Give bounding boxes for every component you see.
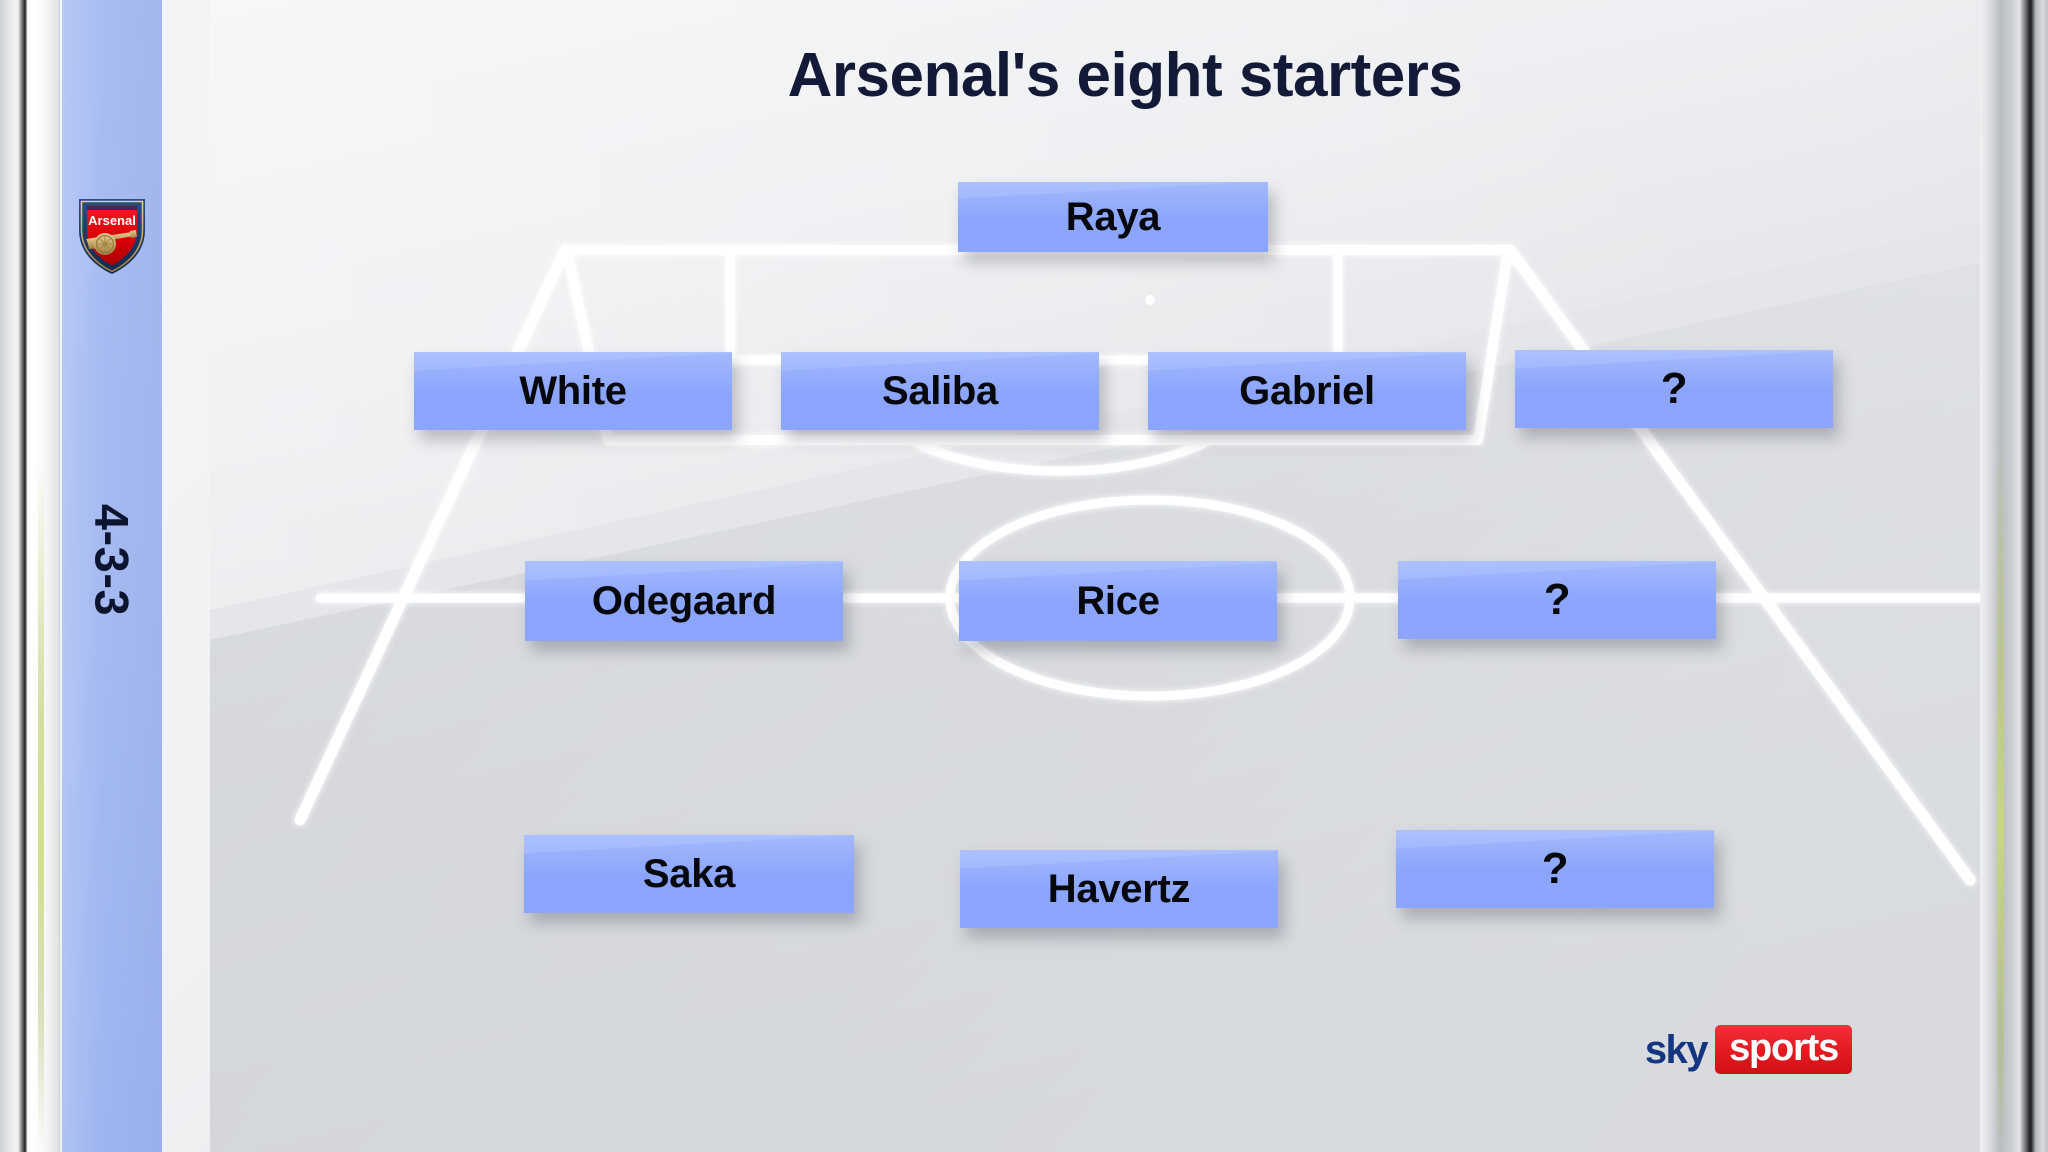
player-name-label: Rice [959,561,1277,641]
player-tile-defence-unknown-3[interactable]: ? [1515,350,1833,428]
player-tile-attack-unknown-2[interactable]: ? [1396,830,1714,908]
player-tile-raya[interactable]: Raya [958,182,1268,252]
player-tile-midfield-unknown-2[interactable]: ? [1398,561,1716,639]
player-tile-saliba[interactable]: Saliba [781,352,1099,430]
broadcast-graphic: Arsenal's eight starters RayaWhiteSaliba… [0,0,2048,1152]
graphic-panel: Arsenal's eight starters RayaWhiteSaliba… [48,0,1992,1152]
player-name-label: Odegaard [525,561,843,641]
player-name-label: Raya [958,182,1268,252]
team-sidebar: Arsenal 4-3-3 [62,0,162,1152]
frame-right-edge [1980,0,2048,1152]
player-name-label: Havertz [960,850,1278,928]
crest-wordmark: Arsenal [88,213,136,228]
player-tile-havertz[interactable]: Havertz [960,850,1278,928]
player-name-label: ? [1396,830,1714,908]
player-tile-white[interactable]: White [414,352,732,430]
player-name-label: White [414,352,732,430]
player-tile-gabriel[interactable]: Gabriel [1148,352,1466,430]
sky-wordmark: sky [1645,1030,1707,1070]
player-name-label: Saka [524,835,854,913]
formation-label: 4-3-3 [85,504,140,616]
player-name-label: ? [1398,561,1716,639]
player-name-label: Saliba [781,352,1099,430]
arsenal-crest-icon: Arsenal [75,192,149,278]
player-tile-saka[interactable]: Saka [524,835,854,913]
player-tile-rice[interactable]: Rice [959,561,1277,641]
penalty-spot [1145,295,1155,305]
frame-left-glow [38,0,44,1152]
sports-wordmark: sports [1715,1025,1852,1074]
frame-left-edge [0,0,60,1152]
frame-right-glow [1997,0,2004,1152]
player-tile-odegaard[interactable]: Odegaard [525,561,843,641]
player-name-label: Gabriel [1148,352,1466,430]
sky-sports-logo: sky sports [1645,1025,1852,1074]
player-name-label: ? [1515,350,1833,428]
page-title: Arsenal's eight starters [210,40,1992,111]
